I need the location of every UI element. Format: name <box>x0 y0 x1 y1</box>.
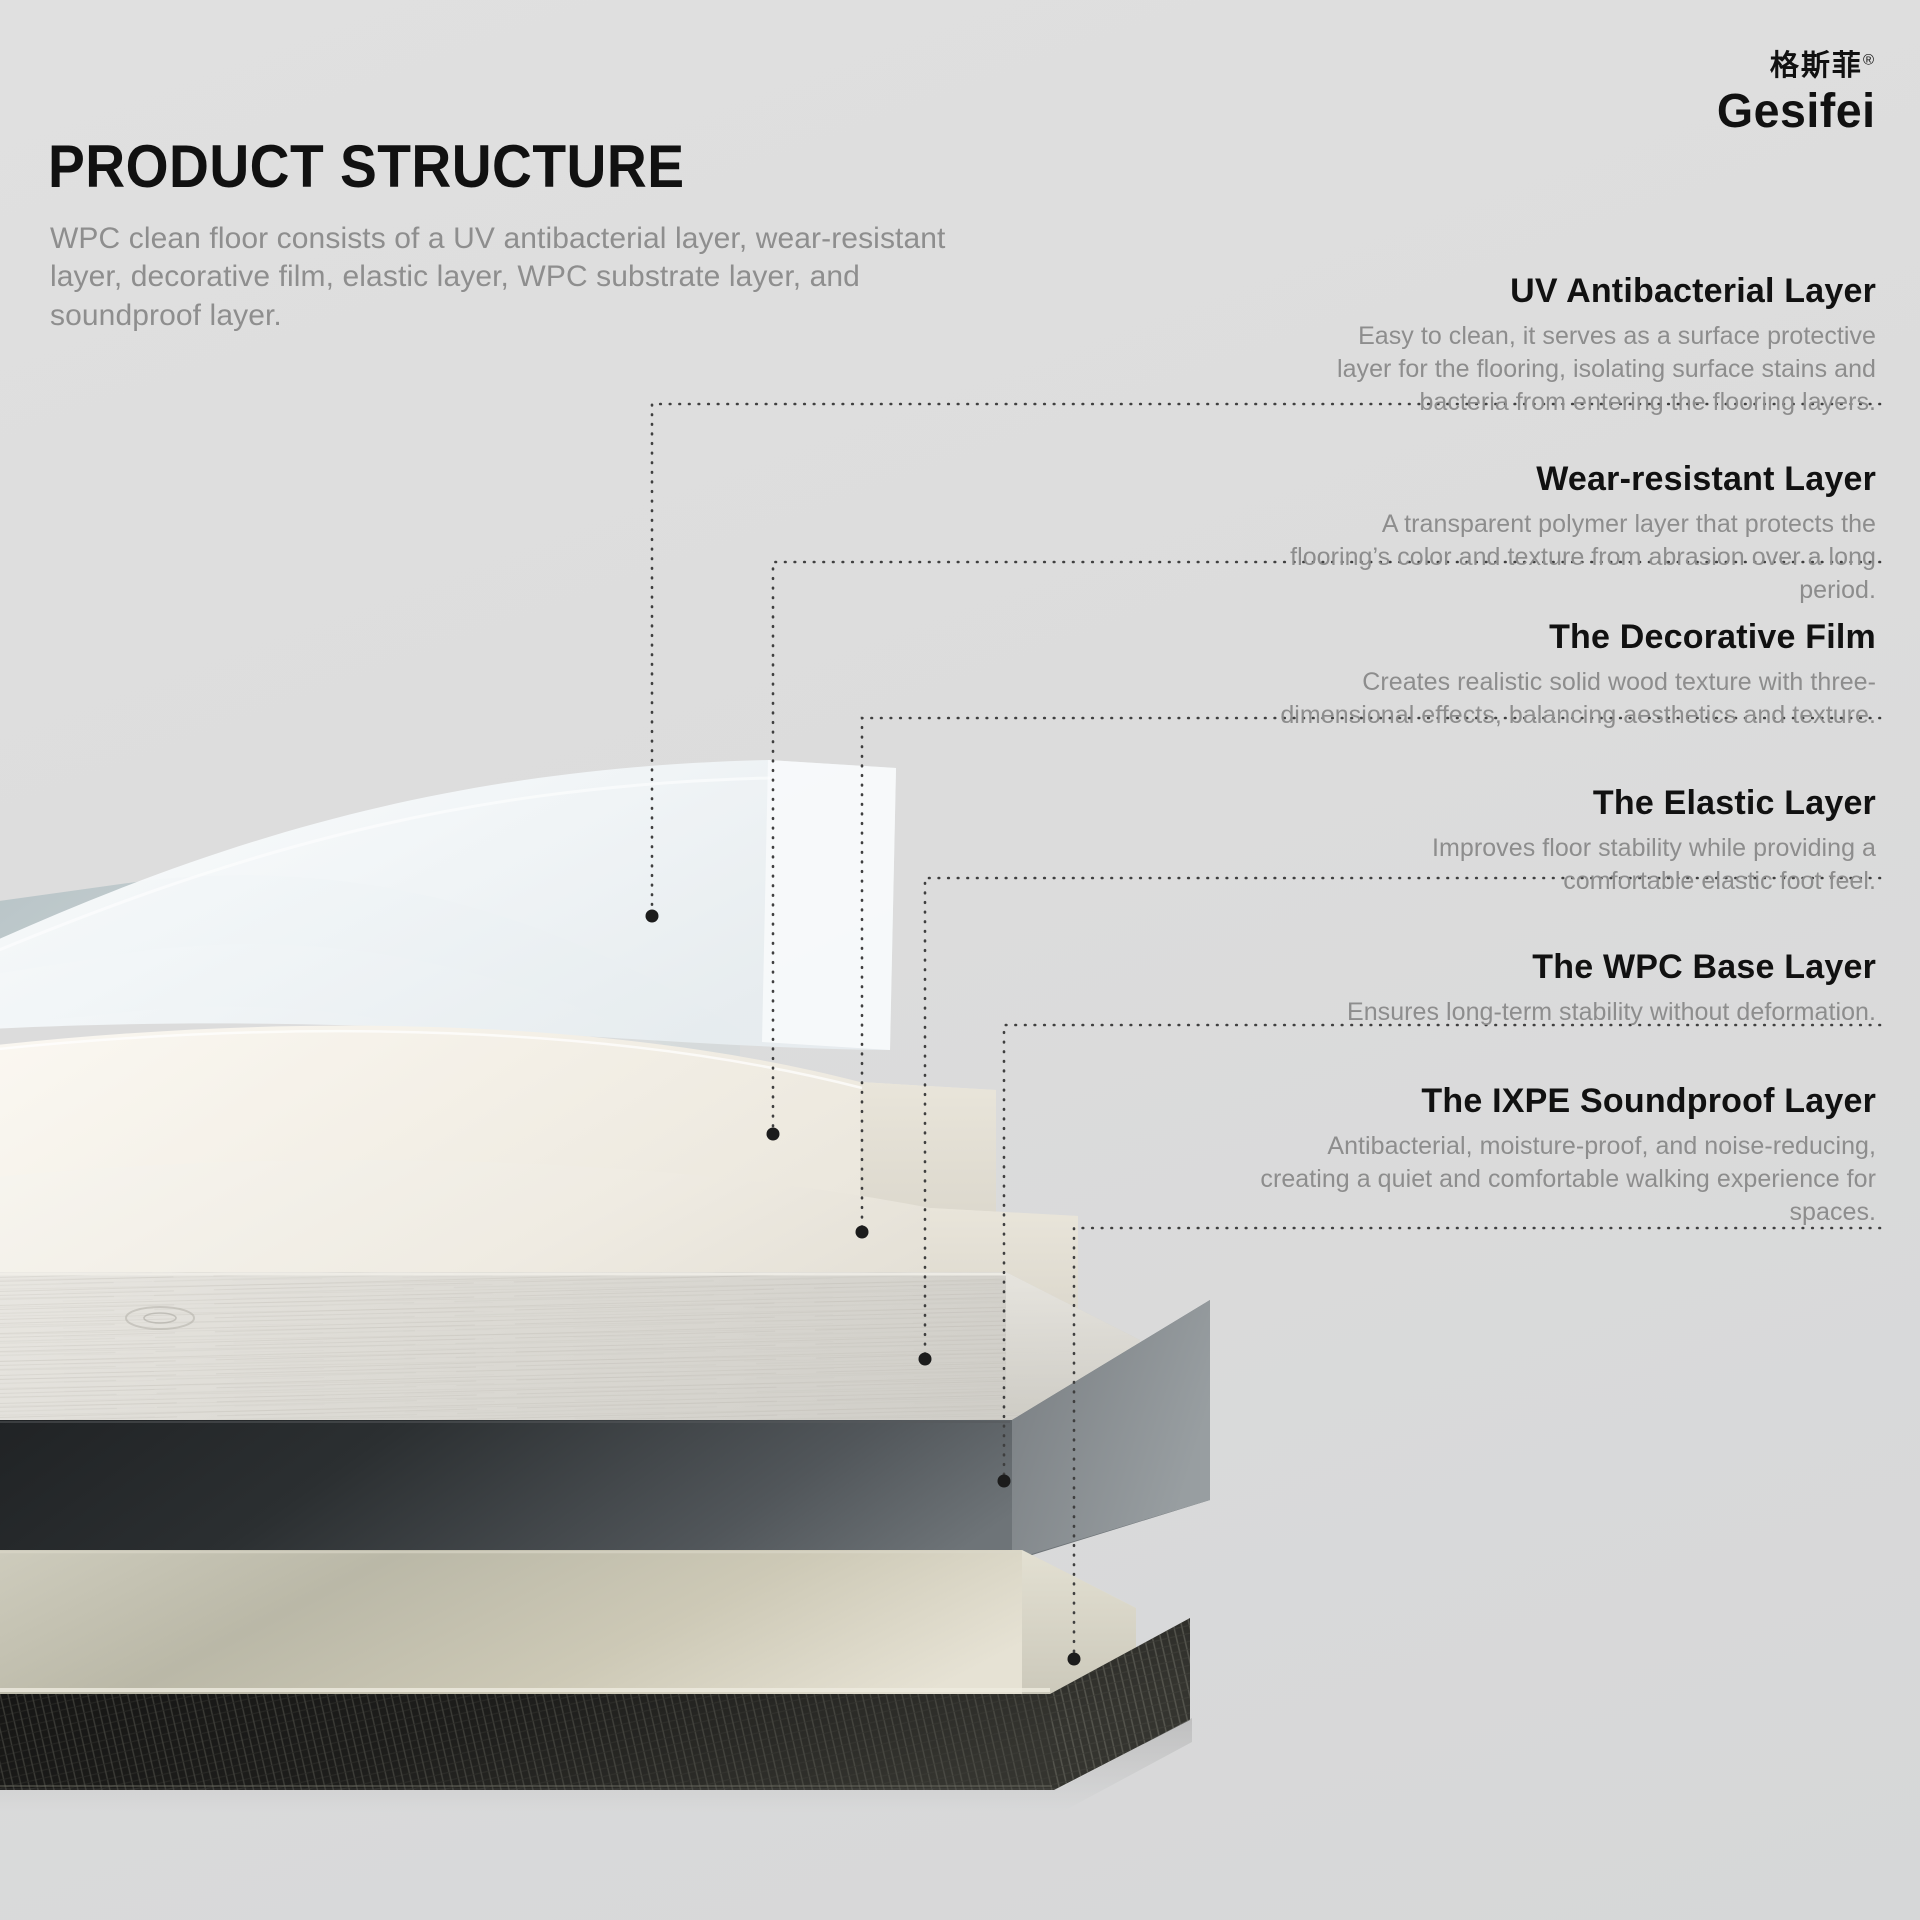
callout-wear-resistant: Wear-resistant Layer A transparent polym… <box>1276 460 1876 607</box>
brand-logo: 格斯菲® Gesifei <box>1712 52 1876 139</box>
callout-title-elastic: The Elastic Layer <box>1316 784 1876 823</box>
callout-desc-uv-antibacterial: Easy to clean, it serves as a surface pr… <box>1336 320 1876 419</box>
callout-title-wpc-base: The WPC Base Layer <box>1256 948 1876 987</box>
logo-chinese-text: 格斯菲 <box>1770 50 1863 82</box>
layer-shape-ixpe-soundproof <box>0 1618 1190 1790</box>
logo-chinese-name: 格斯菲® <box>1712 52 1876 81</box>
leader-dot-wear-resistant <box>767 1128 780 1141</box>
callout-decorative-film: The Decorative Film Creates realistic so… <box>1256 618 1876 732</box>
leader-dot-wpc-base <box>998 1475 1011 1488</box>
callout-ixpe-soundproof: The IXPE Soundproof Layer Antibacterial,… <box>1236 1082 1876 1229</box>
registered-trademark-icon: ® <box>1863 51 1876 68</box>
layer-shape-wear-resistant <box>0 1026 996 1250</box>
callout-desc-decorative-film: Creates realistic solid wood texture wit… <box>1256 666 1876 732</box>
callout-uv-antibacterial: UV Antibacterial Layer Easy to clean, it… <box>1336 272 1876 419</box>
callout-wpc-base: The WPC Base Layer Ensures long-term sta… <box>1256 948 1876 1029</box>
layer-shape-decorative-film <box>0 1272 1140 1425</box>
leader-line-ixpe-soundproof <box>1074 1228 1880 1655</box>
callout-title-decorative-film: The Decorative Film <box>1256 618 1876 657</box>
callout-elastic: The Elastic Layer Improves floor stabili… <box>1316 784 1876 898</box>
callout-desc-ixpe-soundproof: Antibacterial, moisture-proof, and noise… <box>1236 1130 1876 1229</box>
layer-shape-uv-antibacterial <box>0 760 896 1140</box>
layer-shape-wpc-base <box>0 1300 1210 1560</box>
product-structure-infographic: PRODUCT STRUCTURE WPC clean floor consis… <box>0 0 1920 1920</box>
layer-shape-elastic <box>0 1160 1078 1340</box>
intro-paragraph: WPC clean floor consists of a UV antibac… <box>50 220 1010 335</box>
leader-dot-uv-antibacterial <box>646 910 659 923</box>
callout-desc-wpc-base: Ensures long-term stability without defo… <box>1256 996 1876 1029</box>
leader-dot-decorative-film <box>856 1226 869 1239</box>
callout-desc-elastic: Improves floor stability while providing… <box>1316 832 1876 898</box>
leader-dot-ixpe-soundproof <box>1068 1653 1081 1666</box>
callout-desc-wear-resistant: A transparent polymer layer that protect… <box>1276 508 1876 607</box>
layer-shape-beige-substrate <box>0 1550 1136 1700</box>
callout-title-wear-resistant: Wear-resistant Layer <box>1276 460 1876 499</box>
page-title: PRODUCT STRUCTURE <box>48 132 684 201</box>
logo-english-name: Gesifei <box>1717 85 1876 139</box>
callout-title-uv-antibacterial: UV Antibacterial Layer <box>1336 272 1876 311</box>
callout-title-ixpe-soundproof: The IXPE Soundproof Layer <box>1236 1082 1876 1121</box>
leader-dot-elastic <box>919 1353 932 1366</box>
